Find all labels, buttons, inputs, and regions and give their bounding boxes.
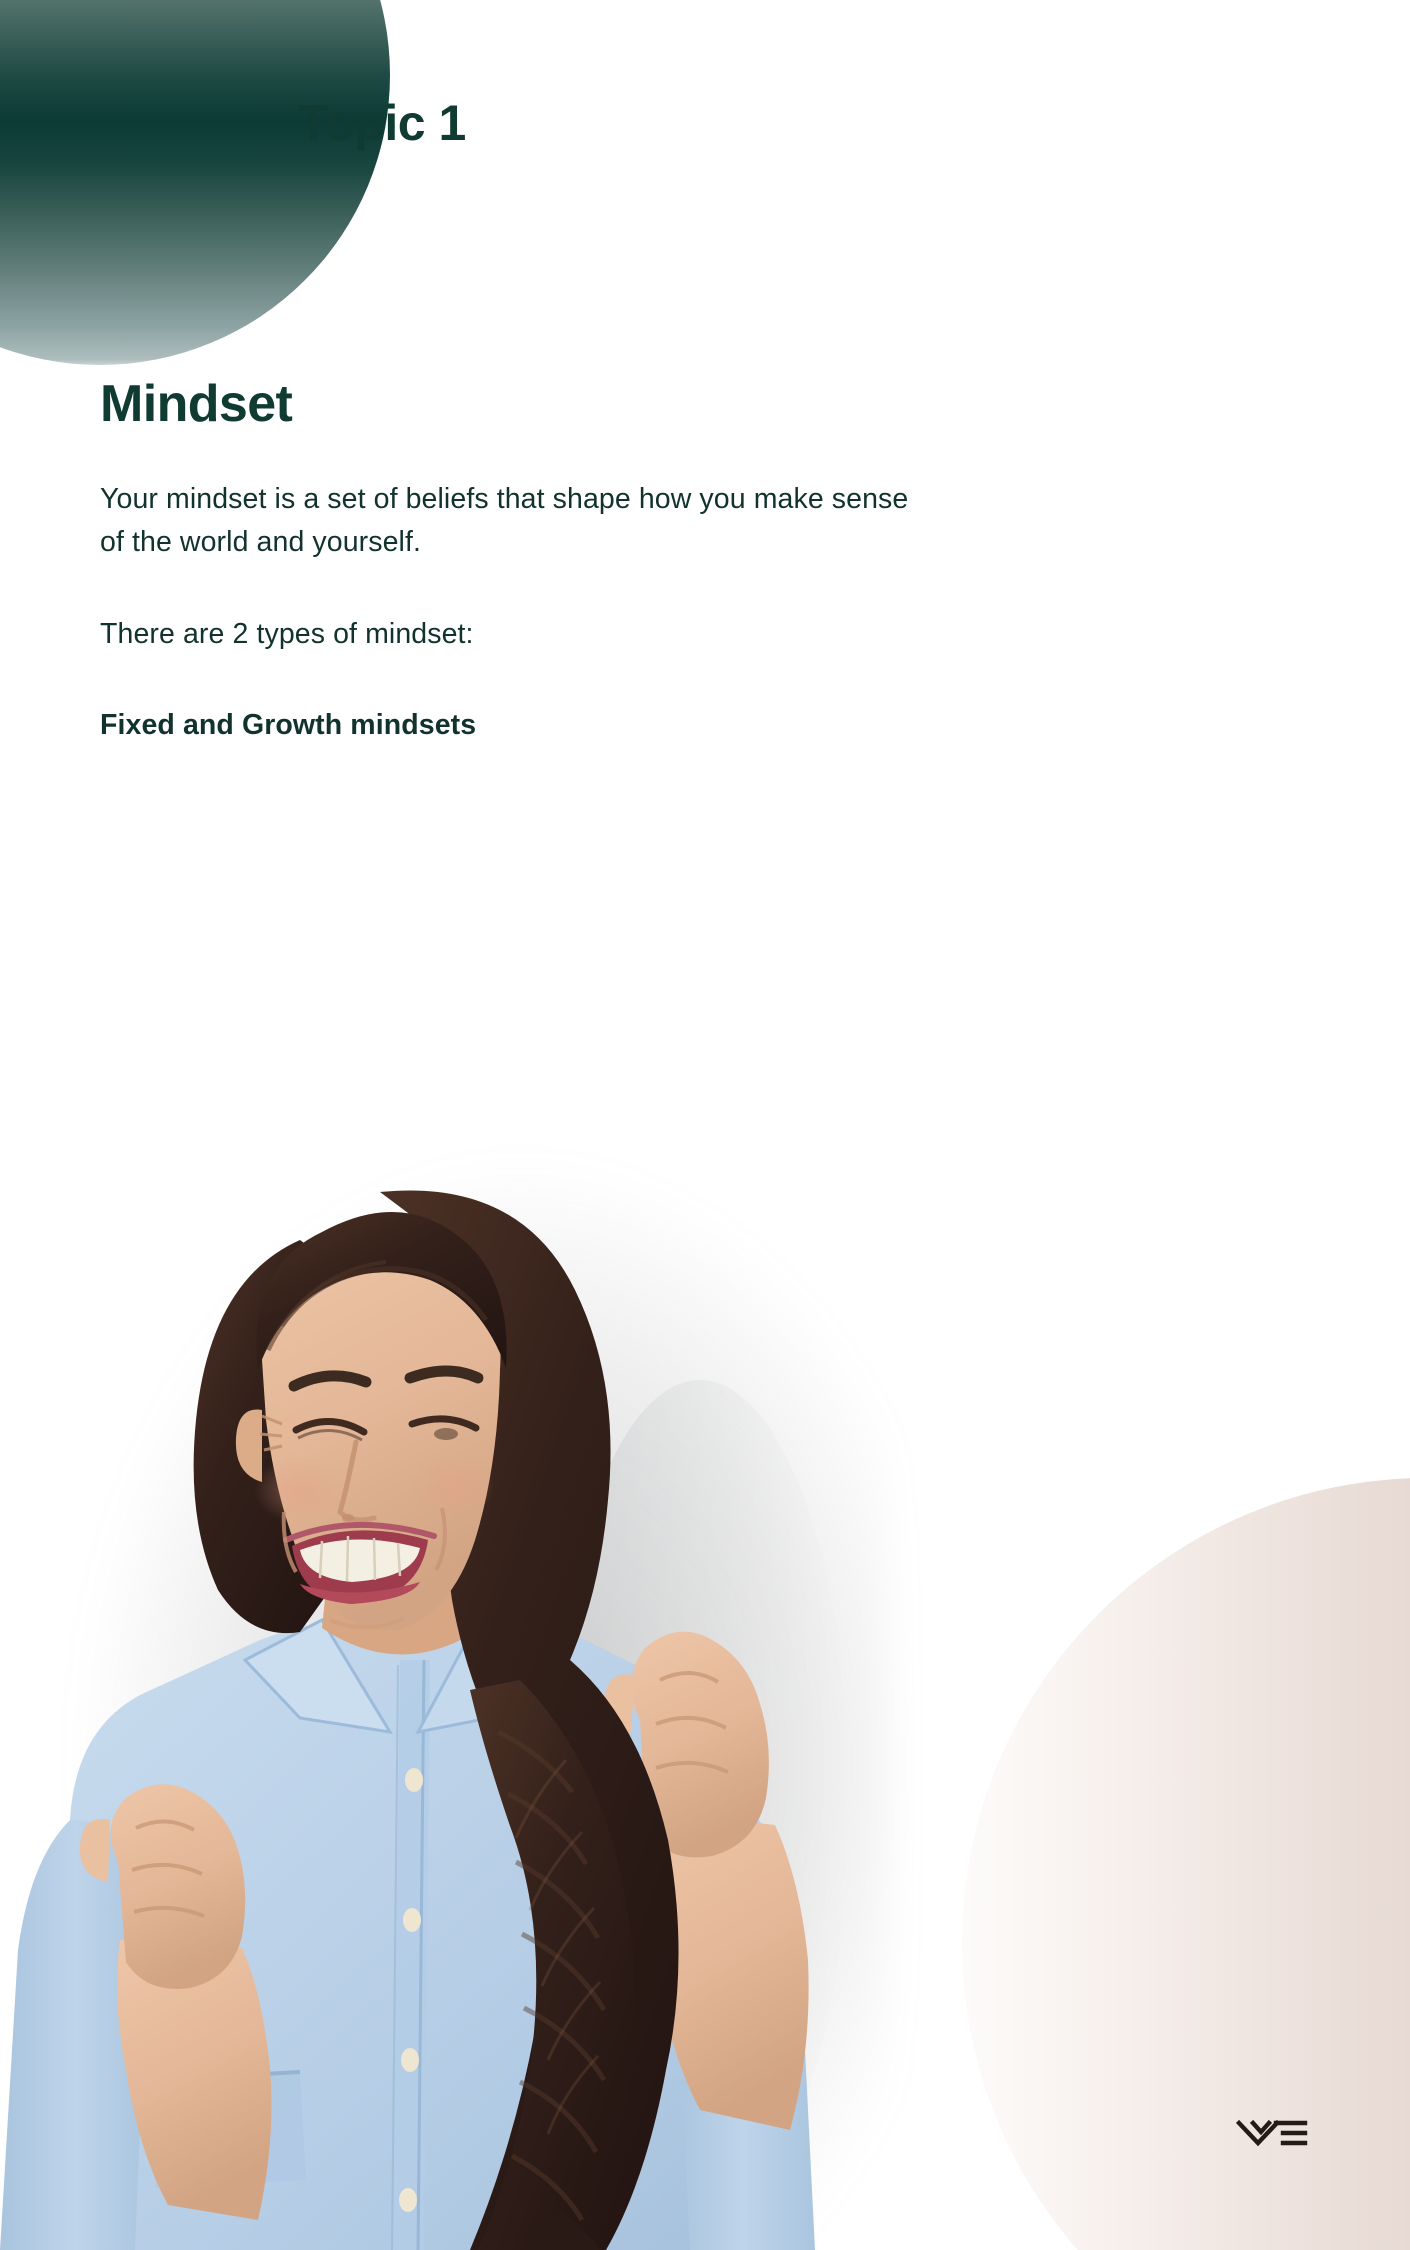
gradient-circle-top-left-decor xyxy=(0,0,390,365)
celebrating-woman-photo xyxy=(0,1120,950,2250)
body-copy: Your mindset is a set of beliefs that sh… xyxy=(100,478,930,747)
photo-drop-shadow xyxy=(70,1150,890,2250)
photo-container xyxy=(0,1120,950,2250)
paragraph-intro: Your mindset is a set of beliefs that sh… xyxy=(100,478,930,565)
gradient-circle-bottom-right-decor xyxy=(962,1478,1410,2250)
slide-page: Topic 1 Mindset Your mindset is a set of… xyxy=(0,0,1410,2250)
topic-label: Topic 1 xyxy=(298,93,466,153)
ve-monogram-logo: VE xyxy=(1236,2110,1308,2154)
section-title: Mindset xyxy=(100,375,292,435)
paragraph-types: There are 2 types of mindset: xyxy=(100,613,930,656)
paragraph-emphasis: Fixed and Growth mindsets xyxy=(100,704,930,747)
